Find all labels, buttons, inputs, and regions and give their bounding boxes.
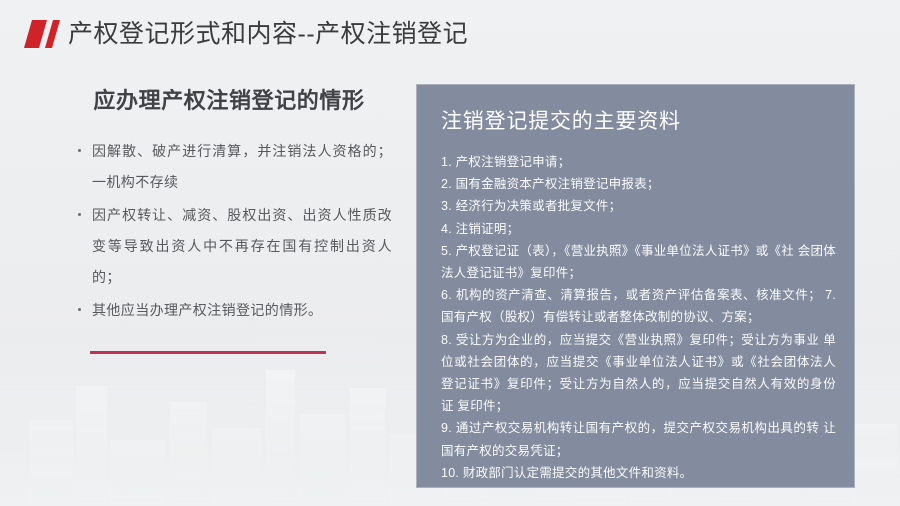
bullet-dot-icon <box>78 308 81 311</box>
list-item-text: 因产权转让、减资、股权出资、出资人性质改 变等导致出资人中不再存在国有控制出资人… <box>92 207 392 285</box>
list-item: 1. 产权注销登记申请； <box>441 151 836 173</box>
slide-root: 产权登记形式和内容--产权注销登记 应办理产权注销登记的情形 因解散、破产进行清… <box>0 0 900 506</box>
list-item: 4. 注销证明； <box>441 218 836 240</box>
list-item: 8. 受让方为企业的，应当提交《营业执照》复印件；受让方为事业 单位或社会团体的… <box>441 329 836 418</box>
list-item: 10. 财政部门认定需提交的其他文件和资料。 <box>441 462 836 484</box>
list-item-text: 其他应当办理产权注销登记的情形。 <box>92 302 322 318</box>
list-item: 6. 机构的资产清查、清算报告，或者资产评估备案表、核准文件； 7. 国有产权（… <box>441 284 836 328</box>
left-column-heading: 应办理产权注销登记的情形 <box>62 86 392 116</box>
list-item: 其他应当办理产权注销登记的情形。 <box>78 295 392 326</box>
slide-header: 产权登记形式和内容--产权注销登记 <box>0 0 900 66</box>
right-panel-list: 1. 产权注销登记申请； 2. 国有金融资本产权注销登记申报表； 3. 经济行为… <box>417 137 854 484</box>
list-item: 3. 经济行为决策或者批复文件； <box>441 195 836 217</box>
page-title: 产权登记形式和内容--产权注销登记 <box>68 14 468 54</box>
list-item: 因解散、破产进行清算，并注销法人资格的；一机构不存续 <box>78 136 392 198</box>
bullet-dot-icon <box>78 213 81 216</box>
right-panel-heading: 注销登记提交的主要资料 <box>417 85 854 137</box>
list-item: 5. 产权登记证（表），《营业执照》《事业单位法人证书》或《社 会团体法人登记证… <box>441 240 836 284</box>
bullet-dot-icon <box>78 149 81 152</box>
list-item: 9. 通过产权交易机构转让国有产权的，提交产权交易机构出具的转 让国有产权的交易… <box>441 417 836 461</box>
left-column-divider <box>90 351 326 354</box>
left-column: 应办理产权注销登记的情形 因解散、破产进行清算，并注销法人资格的；一机构不存续 … <box>62 86 392 328</box>
list-item: 因产权转让、减资、股权出资、出资人性质改 变等导致出资人中不再存在国有控制出资人… <box>78 200 392 293</box>
list-item: 2. 国有金融资本产权注销登记申报表； <box>441 173 836 195</box>
left-bullet-list: 因解散、破产进行清算，并注销法人资格的；一机构不存续 因产权转让、减资、股权出资… <box>62 136 392 326</box>
red-double-slash-icon <box>28 20 64 48</box>
right-panel: 注销登记提交的主要资料 1. 产权注销登记申请； 2. 国有金融资本产权注销登记… <box>417 85 854 487</box>
list-item-text: 因解散、破产进行清算，并注销法人资格的；一机构不存续 <box>92 143 392 190</box>
